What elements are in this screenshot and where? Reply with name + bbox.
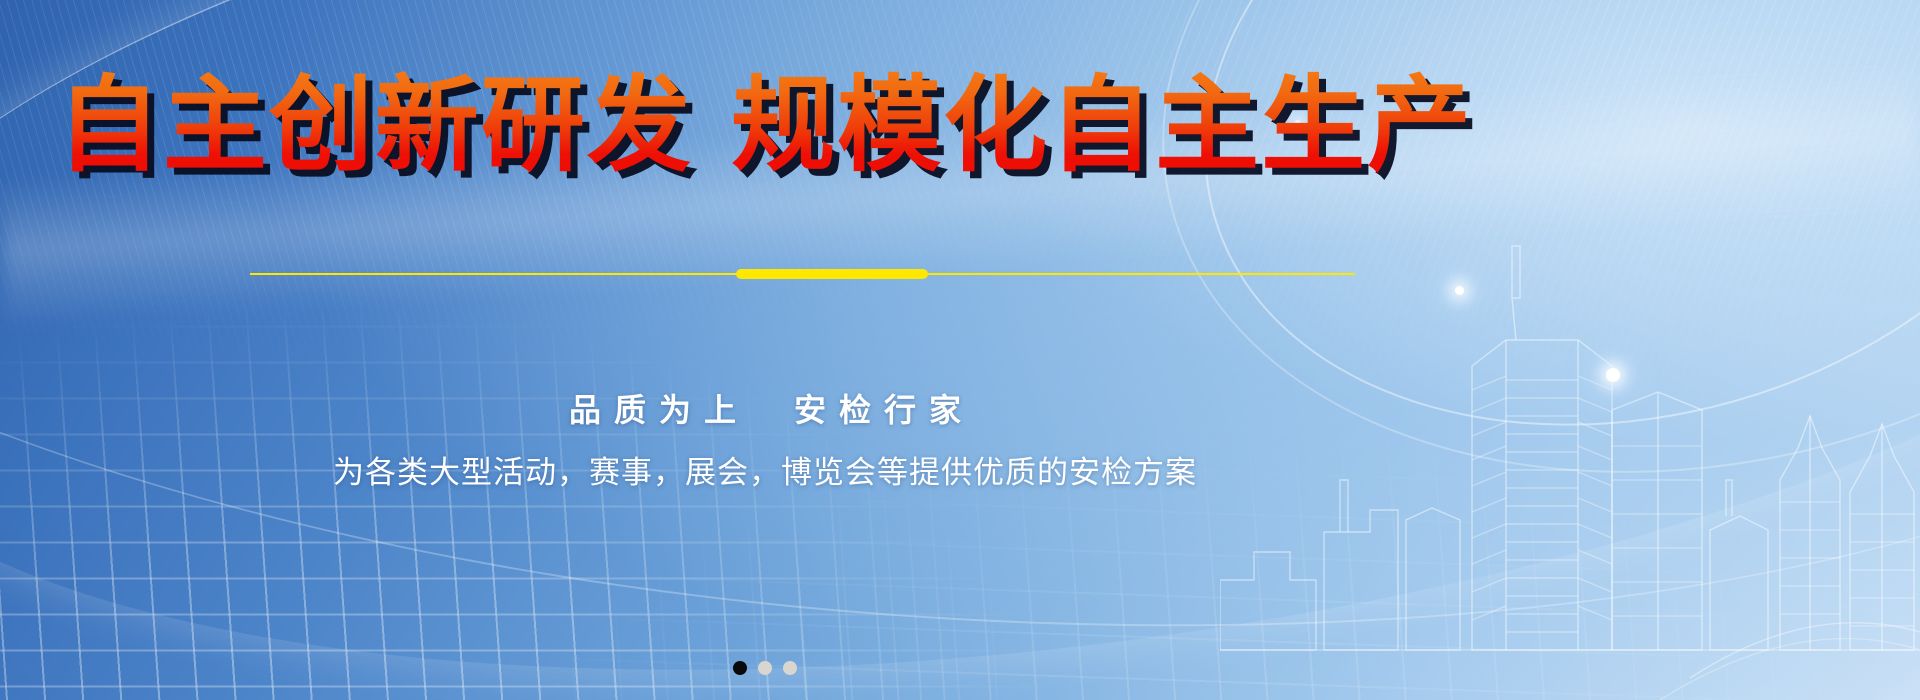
banner-headline: 自主创新研发 规模化自主生产 bbox=[0, 66, 1530, 185]
banner-description: 为各类大型活动，赛事，展会，博览会等提供优质的安检方案 bbox=[0, 447, 1530, 492]
carousel-dot-1[interactable] bbox=[733, 661, 747, 675]
hero-banner: 自主创新研发 规模化自主生产 品质为上 安检行家 为各类大型活动，赛事，展会，博… bbox=[0, 0, 1920, 700]
carousel-dot-3[interactable] bbox=[783, 661, 797, 675]
divider-center-bar bbox=[736, 269, 928, 279]
banner-divider bbox=[250, 272, 1355, 275]
banner-content: 自主创新研发 规模化自主生产 品质为上 安检行家 为各类大型活动，赛事，展会，博… bbox=[0, 0, 1920, 700]
carousel-indicators bbox=[0, 661, 1530, 675]
banner-slogan: 品质为上 安检行家 bbox=[0, 385, 1530, 431]
carousel-dot-2[interactable] bbox=[758, 661, 772, 675]
